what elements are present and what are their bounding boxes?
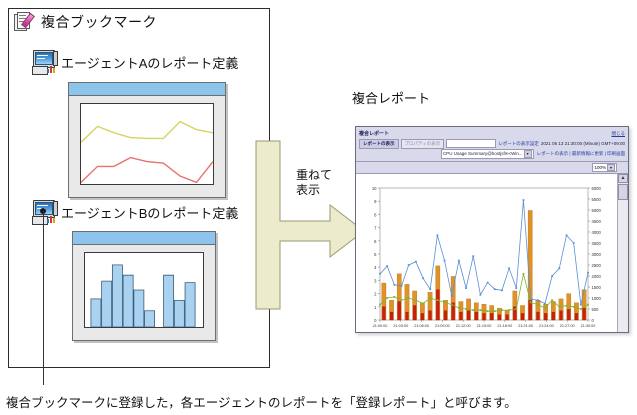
scrollbar-thumb[interactable] <box>618 184 628 200</box>
agent-b-row: エージェントBのレポート定義 <box>32 200 238 224</box>
overlay-label: 重ねて 表示 <box>296 168 332 198</box>
svg-text:3: 3 <box>374 278 377 283</box>
close-link[interactable]: 閉じる <box>612 131 626 137</box>
svg-text:7: 7 <box>374 226 377 231</box>
svg-text:1: 1 <box>374 305 377 310</box>
agent-monitor-icon <box>32 50 58 74</box>
report-action-links[interactable]: レポートの表示 | 最新情報に更新 | 印刷画面 <box>537 151 625 157</box>
svg-text:0: 0 <box>374 318 377 323</box>
agent-a-label: エージェントAのレポート定義 <box>61 53 238 72</box>
report-datetime: 2021 06 13 21:30:00 (Minute) GMT+09:00 <box>541 141 625 146</box>
line-chart-preview <box>81 104 213 184</box>
preview-canvas <box>84 252 204 328</box>
chevron-down-icon: ▾ <box>607 164 615 172</box>
svg-text:9: 9 <box>374 199 377 204</box>
report-path-field[interactable] <box>446 139 496 148</box>
report-select-value: CPU Usage Summary@hostjsfm<Win... <box>443 151 523 156</box>
overlay-label-line2: 表示 <box>296 183 332 198</box>
composite-report-caption: 複合レポート <box>352 88 430 107</box>
vertical-scrollbar[interactable]: ▲ ▼ <box>617 174 628 333</box>
report-select[interactable]: CPU Usage Summary@hostjsfm<Win... ▾ <box>441 149 534 159</box>
display-setting-link[interactable]: レポートの表示設定 <box>498 141 539 147</box>
report-chart-body: 0123456789100500100015002000250030003500… <box>356 174 628 333</box>
bookmark-title: 複合ブックマーク <box>14 12 157 32</box>
tab-report-display[interactable]: レポートの表示 <box>359 139 399 149</box>
svg-text:3500: 3500 <box>592 241 602 246</box>
agent-a-report-preview <box>68 82 226 198</box>
svg-text:0: 0 <box>592 318 595 323</box>
svg-text:4500: 4500 <box>592 219 602 224</box>
overlay-label-line1: 重ねて <box>296 168 332 183</box>
chart-canvas: 0123456789100500100015002000250030003500… <box>356 174 620 333</box>
svg-text:6: 6 <box>374 239 377 244</box>
svg-text:5500: 5500 <box>592 197 602 202</box>
preview-canvas <box>80 103 214 185</box>
svg-text:2000: 2000 <box>592 274 602 279</box>
svg-text:4: 4 <box>374 265 377 270</box>
bar-chart-preview <box>85 253 203 327</box>
svg-text:21:24:00: 21:24:00 <box>539 324 554 328</box>
svg-text:21:18:00: 21:18:00 <box>497 324 512 328</box>
zoom-value: 100% <box>594 165 606 170</box>
report-window-title: 複合レポート <box>359 130 389 137</box>
callout-line <box>43 211 44 385</box>
svg-text:21:12:00: 21:12:00 <box>456 324 471 328</box>
bookmark-pen-icon <box>14 12 36 32</box>
zoom-select[interactable]: 100% ▾ <box>592 163 617 172</box>
svg-text:1000: 1000 <box>592 296 602 301</box>
svg-text:1500: 1500 <box>592 285 602 290</box>
svg-text:5: 5 <box>374 252 377 257</box>
svg-text:4000: 4000 <box>592 230 602 235</box>
report-zoom-bar: 100% ▾ <box>356 162 628 174</box>
svg-text:500: 500 <box>592 307 600 312</box>
svg-text:21:06:00: 21:06:00 <box>414 324 429 328</box>
svg-text:21:03:00: 21:03:00 <box>393 324 408 328</box>
agent-b-report-preview <box>72 231 216 341</box>
preview-titlebar <box>69 83 225 96</box>
svg-text:21:00:00: 21:00:00 <box>373 324 388 328</box>
svg-text:5000: 5000 <box>592 208 602 213</box>
tab-property-display[interactable]: プロパティの表示 <box>401 139 445 149</box>
svg-text:3000: 3000 <box>592 252 602 257</box>
svg-text:21:27:00: 21:27:00 <box>560 324 575 328</box>
svg-text:2500: 2500 <box>592 263 602 268</box>
report-window-header: 複合レポート 閉じる レポートの表示 プロパティの表示 レポートの表示設定 20… <box>356 127 628 162</box>
agent-b-label: エージェントBのレポート定義 <box>61 203 238 222</box>
composite-report-window: 複合レポート 閉じる レポートの表示 プロパティの表示 レポートの表示設定 20… <box>355 126 629 333</box>
svg-text:21:30:00: 21:30:00 <box>581 324 596 328</box>
right-arrow-icon <box>256 133 368 315</box>
preview-titlebar <box>73 232 215 245</box>
svg-text:6000: 6000 <box>592 186 602 191</box>
bookmark-title-label: 複合ブックマーク <box>41 12 157 32</box>
svg-text:8: 8 <box>374 212 377 217</box>
agent-a-row: エージェントAのレポート定義 <box>32 50 238 74</box>
caret-up-icon[interactable]: ▲ <box>618 174 628 183</box>
svg-text:10: 10 <box>372 186 377 191</box>
footnote-caption: 複合ブックマークに登録した，各エージェントのレポートを「登録レポート」と呼びます… <box>6 392 517 411</box>
chevron-down-icon: ▾ <box>524 150 532 158</box>
svg-text:2: 2 <box>374 292 377 297</box>
svg-text:21:21:00: 21:21:00 <box>518 324 533 328</box>
svg-text:21:15:00: 21:15:00 <box>477 324 492 328</box>
composite-chart: 0123456789100500100015002000250030003500… <box>356 174 618 333</box>
svg-text:21:09:00: 21:09:00 <box>435 324 450 328</box>
